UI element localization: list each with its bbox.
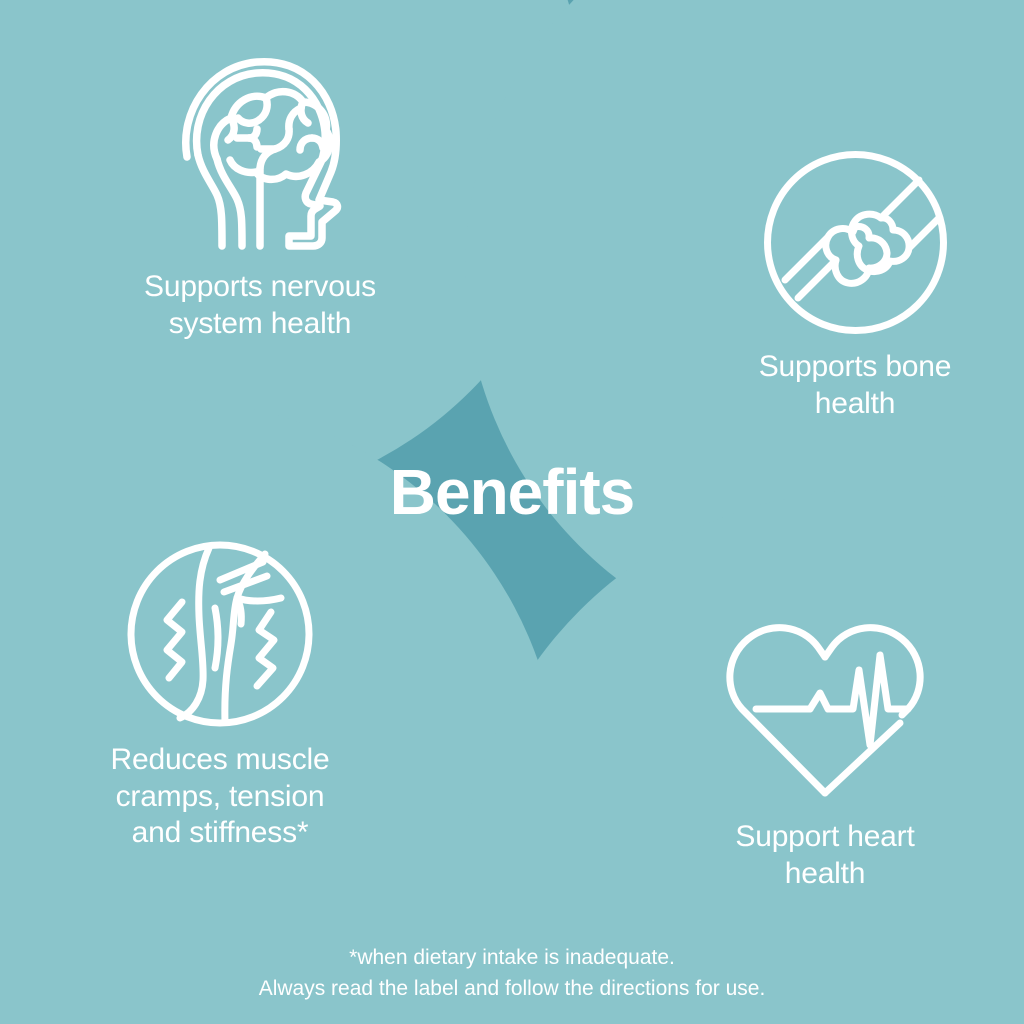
benefit-item-nervous: Supports nervous system health (40, 50, 480, 342)
benefit-label-nervous: Supports nervous system health (144, 269, 376, 342)
heart-pulse-icon (720, 615, 930, 805)
benefits-infographic: Supports nervous system health Supports … (0, 0, 1024, 1024)
benefit-item-bone: Supports bone health (640, 150, 1024, 422)
head-brain-icon (165, 50, 355, 255)
footer-disclaimer: *when dietary intake is inadequate. Alwa… (0, 943, 1024, 1004)
leg-muscle-cramp-circle-icon (125, 540, 315, 728)
benefit-label-muscle: Reduces muscle cramps, tension and stiff… (111, 742, 330, 852)
benefit-label-heart: Support heart health (735, 819, 914, 892)
benefit-item-heart: Support heart health (610, 615, 1024, 892)
page-title: Benefits (0, 455, 1024, 529)
benefit-label-bone: Supports bone health (759, 349, 952, 422)
bone-joint-circle-icon (763, 150, 948, 335)
benefit-item-muscle: Reduces muscle cramps, tension and stiff… (10, 540, 430, 852)
